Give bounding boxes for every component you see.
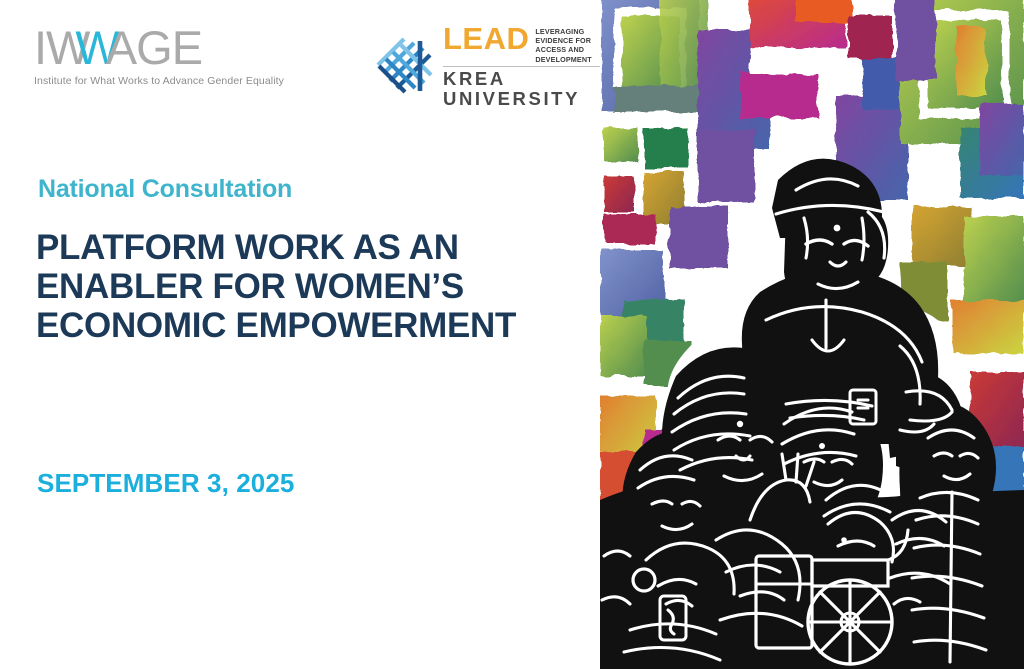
iwwage-wordmark: IWWAGE: [34, 24, 264, 72]
page-title-line-2: ENABLER FOR WOMEN’S: [36, 267, 596, 306]
presentation-slide: IWWAGE Institute for What Works to Advan…: [0, 0, 1024, 669]
lead-university-name: KREA UNIVERSITY: [443, 69, 615, 109]
page-title-line-1: PLATFORM WORK AS AN: [36, 228, 596, 267]
artwork-panel: [600, 0, 1024, 669]
eyebrow-label: National Consultation: [38, 175, 292, 204]
left-text-panel: IWWAGE Institute for What Works to Advan…: [0, 0, 600, 669]
iwwage-letters-gray-second: AGE: [106, 21, 202, 74]
iwwage-logo: IWWAGE Institute for What Works to Advan…: [34, 24, 264, 87]
iwwage-tagline: Institute for What Works to Advance Gend…: [34, 75, 264, 87]
page-title: PLATFORM WORK AS AN ENABLER FOR WOMEN’S …: [36, 228, 596, 345]
lead-divider: [443, 66, 615, 67]
page-title-line-3: ECONOMIC EMPOWERMENT: [36, 306, 596, 345]
artwork-illustration: [600, 0, 1024, 669]
lead-wordmark: LEAD: [443, 24, 529, 54]
lead-krea-logo: LEAD LEVERAGING EVIDENCE FOR ACCESS AND …: [374, 24, 615, 109]
logo-row: IWWAGE Institute for What Works to Advan…: [34, 24, 615, 109]
event-date: SEPTEMBER 3, 2025: [37, 468, 294, 499]
lead-top-row: LEAD LEVERAGING EVIDENCE FOR ACCESS AND …: [443, 24, 615, 64]
lead-text-lockup: LEAD LEVERAGING EVIDENCE FOR ACCESS AND …: [443, 24, 615, 109]
lead-lattice-icon: [374, 35, 436, 97]
